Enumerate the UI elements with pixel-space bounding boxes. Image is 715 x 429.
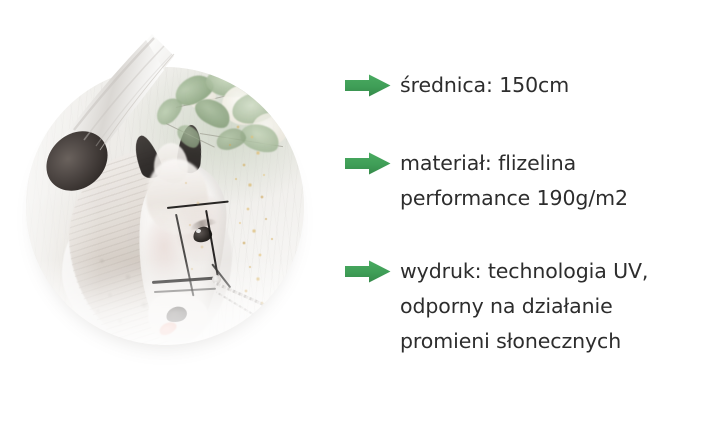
arrow-right-icon bbox=[345, 152, 391, 175]
arrow-right-icon bbox=[345, 260, 391, 283]
product-image-panel bbox=[0, 0, 330, 429]
spec-item-material: materiał: flizelina performance 190g/m2 bbox=[345, 146, 628, 216]
spec-label-print: wydruk: technologia UV, odporny na dział… bbox=[400, 254, 648, 359]
spec-label-diameter: średnica: 150cm bbox=[400, 68, 569, 103]
spec-item-print: wydruk: technologia UV, odporny na dział… bbox=[345, 254, 648, 359]
spec-label-material: materiał: flizelina performance 190g/m2 bbox=[400, 146, 628, 216]
circular-wall-sticker[interactable] bbox=[26, 67, 304, 345]
slide-canvas: średnica: 150cm materiał: flizelina perf… bbox=[0, 0, 715, 429]
artwork-bottom-fade bbox=[26, 259, 304, 345]
specifications-list: średnica: 150cm materiał: flizelina perf… bbox=[330, 0, 715, 429]
arrow-right-icon bbox=[345, 74, 391, 97]
horse-watercolor-artwork bbox=[26, 67, 304, 345]
spec-item-diameter: średnica: 150cm bbox=[345, 68, 569, 103]
sticker-disc bbox=[26, 67, 304, 345]
